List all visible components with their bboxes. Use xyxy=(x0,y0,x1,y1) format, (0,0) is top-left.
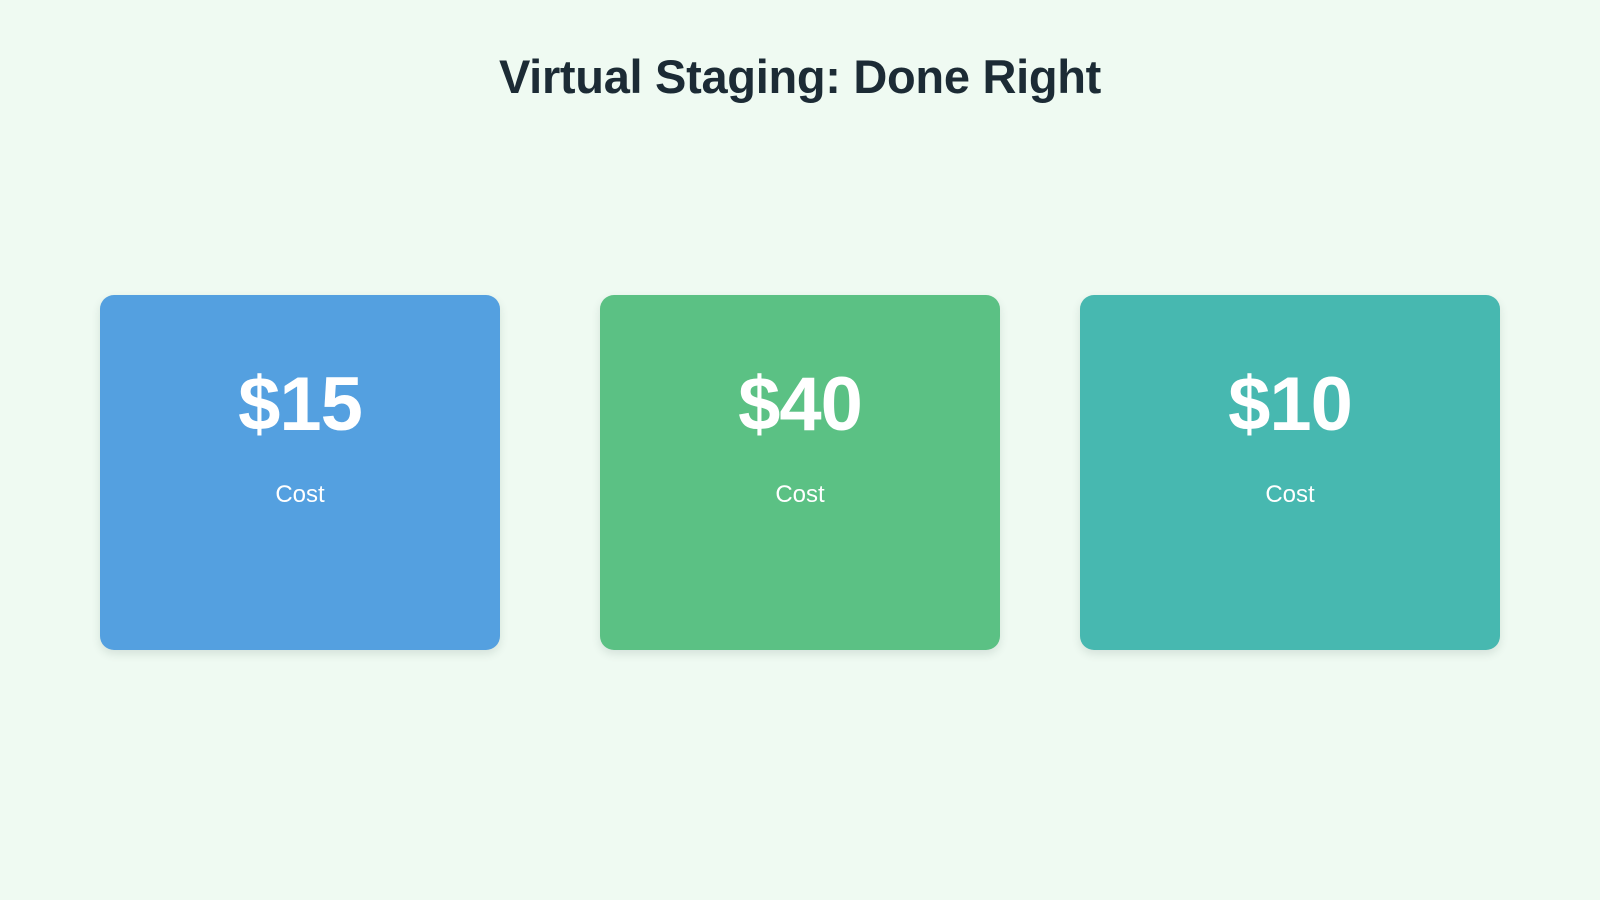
stat-card-label: Cost xyxy=(100,483,500,507)
infographic-page: Virtual Staging: Done Right $15 Cost $40… xyxy=(0,0,1600,900)
stat-card-value: $40 xyxy=(600,367,1000,443)
stat-card: $10 Cost xyxy=(1080,295,1500,650)
stat-card-value: $15 xyxy=(100,367,500,443)
stat-card: $40 Cost xyxy=(600,295,1000,650)
stat-card-row: $15 Cost $40 Cost $10 Cost xyxy=(0,295,1600,650)
stat-card: $15 Cost xyxy=(100,295,500,650)
stat-card-label: Cost xyxy=(1080,483,1500,507)
stat-card-value: $10 xyxy=(1080,367,1500,443)
page-title: Virtual Staging: Done Right xyxy=(0,50,1600,104)
stat-card-label: Cost xyxy=(600,483,1000,507)
